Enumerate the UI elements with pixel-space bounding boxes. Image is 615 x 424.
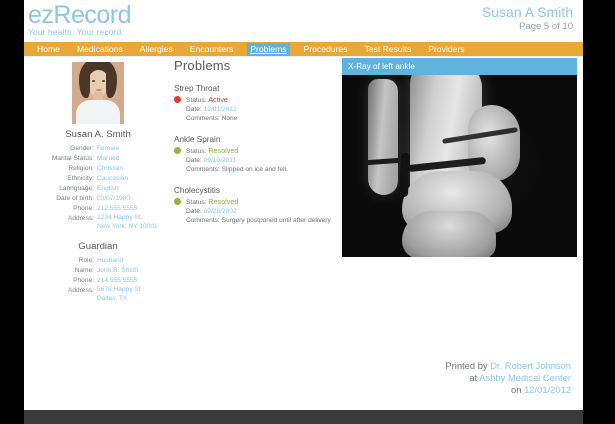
field-label: Religion: <box>24 164 97 173</box>
status-dot-icon <box>174 147 181 154</box>
field-row: Name:John B. Smith <box>24 266 172 275</box>
field-value: Married <box>97 154 172 163</box>
logo-tagline: Your health. Your record. <box>28 27 131 37</box>
xray-panel: X-Ray of left ankle <box>342 58 577 257</box>
photo-hair-left <box>79 68 90 98</box>
problem-status-line: Status: Resolved <box>186 197 334 207</box>
page-bottom-band <box>24 410 583 424</box>
print-footer: Printed by Dr. Robert Johnson at Ashby M… <box>445 360 571 396</box>
field-label: Name: <box>24 266 97 275</box>
problem-item[interactable]: Strep ThroatStatus: ActiveDate: 12/01/20… <box>174 84 334 123</box>
problem-date: 09/28/2002 <box>204 208 237 215</box>
status-label: Status: <box>186 97 208 104</box>
field-value: 1234 Happy St.New York, NY 10001 <box>97 214 172 231</box>
problem-date-line: Date: 12/01/2012 <box>186 105 334 114</box>
field-row: Ethnicity:Caucasian <box>24 174 172 183</box>
nav-item-home[interactable]: Home <box>34 43 63 56</box>
status-badge: Resolved <box>208 146 238 155</box>
field-label: Address: <box>24 286 97 303</box>
field-value-line2: New York, NY 10001 <box>97 223 172 232</box>
header-patient-name: Susan A Smith <box>482 4 573 20</box>
problems-section: Problems Strep ThroatStatus: ActiveDate:… <box>174 58 334 237</box>
nav-item-allergies[interactable]: Allergies <box>137 43 176 56</box>
problem-name: Ankle Sprain <box>174 135 334 144</box>
status-dot-icon <box>174 198 181 205</box>
field-row: Phone:214.555.5555 <box>24 276 172 285</box>
comments-label: Comments: <box>186 166 220 173</box>
status-label: Status: <box>186 199 208 206</box>
field-row: Address:1234 Happy St.New York, NY 10001 <box>24 214 172 231</box>
footer-line-printed-by: Printed by Dr. Robert Johnson <box>445 360 571 372</box>
brand-logo[interactable]: ezRecord Your health. Your record. <box>28 2 131 37</box>
status-badge: Resolved <box>208 197 238 206</box>
nav-item-procedures[interactable]: Procedures <box>301 43 351 56</box>
nav-item-problems[interactable]: Problems <box>247 43 289 56</box>
problem-comments: None <box>222 115 238 122</box>
field-row: Marital Status:Married <box>24 154 172 163</box>
status-dot-icon <box>174 96 181 103</box>
field-value-line2: Dallas, TX <box>97 295 172 304</box>
date-label: Date: <box>186 208 202 215</box>
field-value: 03/07/1980 <box>97 194 172 203</box>
problem-item[interactable]: Ankle SprainStatus: ResolvedDate: 09/19/… <box>174 135 334 174</box>
problem-comments-line: Comments: Slipped on ice and fell. <box>186 165 334 174</box>
field-value: Husband <box>97 256 172 265</box>
field-label: Role: <box>24 256 97 265</box>
field-value: English <box>97 184 172 193</box>
nav-item-test-results[interactable]: Test Results <box>362 43 415 56</box>
photo-hair-right <box>106 68 117 98</box>
field-row: Religion:Christian <box>24 164 172 173</box>
comments-label: Comments: <box>186 115 220 122</box>
problem-date-line: Date: 09/28/2002 <box>186 207 334 216</box>
guardian-heading: Guardian <box>24 241 172 252</box>
status-label: Status: <box>186 148 208 155</box>
problems-title: Problems <box>174 58 334 73</box>
problem-status-line: Status: Resolved <box>186 146 334 156</box>
field-value: 5678 Happy StDallas, TX <box>97 286 172 303</box>
field-value: John B. Smith <box>97 266 172 275</box>
footer-doctor-name: Dr. Robert Johnson <box>490 360 571 371</box>
comments-label: Comments: <box>186 217 220 224</box>
field-label: Phone: <box>24 204 97 213</box>
problem-name: Strep Throat <box>174 84 334 93</box>
nav-item-encounters[interactable]: Encounters <box>187 43 236 56</box>
field-label: Phone: <box>24 276 97 285</box>
footer-line-date: on 12/01/2012 <box>445 384 571 396</box>
patient-sidebar: Susan A. Smith Gender:FemaleMarital Stat… <box>24 62 172 304</box>
guardian-list: Role:HusbandName:John B. SmithPhone:214.… <box>24 256 172 303</box>
xray-caption: X-Ray of left ankle <box>342 58 577 75</box>
field-label: Gender: <box>24 144 97 153</box>
problem-date: 12/01/2012 <box>204 106 237 113</box>
field-row: Gender:Female <box>24 144 172 153</box>
xray-image[interactable] <box>342 75 577 257</box>
photo-mouth <box>96 89 102 91</box>
field-value: 212.555.5555 <box>97 204 172 213</box>
sidebar-patient-name: Susan A. Smith <box>24 129 172 140</box>
photo-shirt <box>76 100 120 124</box>
nav-item-providers[interactable]: Providers <box>425 43 467 56</box>
field-label: Lannguage: <box>24 184 97 193</box>
field-label: Marital Status: <box>24 154 97 163</box>
problem-status-line: Status: Active <box>186 95 334 105</box>
page-indicator: Page 5 of 10 <box>482 21 573 33</box>
field-value: Christian <box>97 164 172 173</box>
footer-facility-name: Ashby Medical Center <box>479 372 571 383</box>
field-value-line1: 1234 Happy St. <box>97 214 172 223</box>
date-label: Date: <box>186 157 202 164</box>
field-row: Role:Husband <box>24 256 172 265</box>
problem-date-line: Date: 09/19/2011 <box>186 156 334 165</box>
field-row: Address:5678 Happy StDallas, TX <box>24 286 172 303</box>
page-header: ezRecord Your health. Your record. Susan… <box>24 0 583 42</box>
problem-name: Cholecystitis <box>174 186 334 195</box>
field-label: Address: <box>24 214 97 231</box>
demographics-list: Gender:FemaleMarital Status:MarriedRelig… <box>24 144 172 231</box>
footer-line-facility: at Ashby Medical Center <box>445 372 571 384</box>
page-content: Susan A. Smith Gender:FemaleMarital Stat… <box>24 56 583 410</box>
field-value-line1: 5678 Happy St <box>97 286 172 295</box>
nav-item-medications[interactable]: Medications <box>74 43 126 56</box>
field-row: Phone:212.555.5555 <box>24 204 172 213</box>
status-badge: Active <box>208 95 228 104</box>
problem-comments: Surgery postponed until after delivery <box>222 217 331 224</box>
footer-print-date: 12/01/2012 <box>524 384 571 395</box>
problem-comments-line: Comments: None <box>186 114 334 123</box>
problem-comments-line: Comments: Surgery postponed until after … <box>186 216 334 225</box>
field-label: Date of birth: <box>24 194 97 203</box>
main-navigation: HomeMedicationsAllergiesEncountersProble… <box>24 42 583 56</box>
patient-photo <box>72 62 124 124</box>
problem-item[interactable]: CholecystitisStatus: ResolvedDate: 09/28… <box>174 186 334 225</box>
field-row: Date of birth:03/07/1980 <box>24 194 172 203</box>
photo-eye-right <box>102 80 105 82</box>
xray-soft-tissue <box>342 75 577 257</box>
problem-date: 09/19/2011 <box>204 157 237 164</box>
field-value: 214.555.5555 <box>97 276 172 285</box>
field-value: Caucasian <box>97 174 172 183</box>
field-row: Lannguage:English <box>24 184 172 193</box>
field-value: Female <box>97 144 172 153</box>
problem-list: Strep ThroatStatus: ActiveDate: 12/01/20… <box>174 84 334 225</box>
problem-comments: Slipped on ice and fell. <box>222 166 288 173</box>
document-page: ezRecord Your health. Your record. Susan… <box>24 0 583 410</box>
photo-eye-left <box>92 80 95 82</box>
field-label: Ethnicity: <box>24 174 97 183</box>
header-patient-block: Susan A Smith Page 5 of 10 <box>482 4 573 33</box>
date-label: Date: <box>186 106 202 113</box>
logo-text: ezRecord <box>28 2 131 28</box>
